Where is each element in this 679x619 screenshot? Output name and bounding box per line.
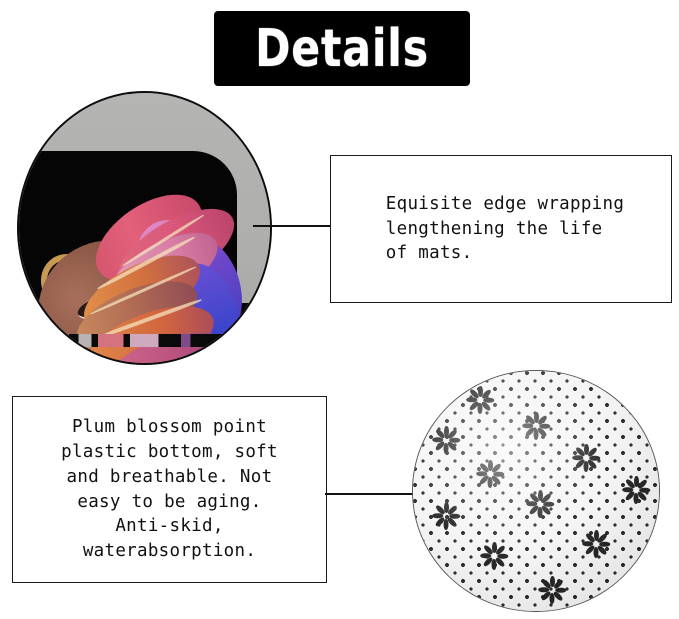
plum-blossom-motif (537, 575, 567, 605)
connector-line-top (253, 225, 332, 227)
page-title: Details (255, 23, 429, 75)
connector-line-bottom (325, 493, 419, 495)
plum-blossom-motif (475, 459, 505, 489)
plum-blossom-motif (571, 443, 601, 473)
plastic-bottom-closeup-image (412, 370, 660, 612)
callout-edge-wrapping: Equisite edge wrapping lengthening the l… (330, 155, 672, 303)
callout-plastic-bottom-text: Plum blossom point plastic bottom, soft … (55, 415, 284, 564)
callout-plastic-bottom: Plum blossom point plastic bottom, soft … (12, 396, 327, 583)
plum-blossom-motif (479, 541, 509, 571)
details-title-banner: Details (214, 11, 470, 86)
mat-edge-strip (69, 334, 229, 347)
plum-blossom-motif (581, 529, 611, 559)
product-detail-page: Details Equisite edge wrapping lengtheni… (0, 0, 679, 619)
plum-blossom-motif (431, 425, 461, 455)
plum-blossom-motif (521, 411, 551, 441)
plum-blossom-motif (525, 489, 555, 519)
plum-blossom-motif (621, 475, 651, 505)
plum-blossom-motif (465, 385, 495, 415)
callout-edge-wrapping-text: Equisite edge wrapping lengthening the l… (372, 192, 630, 267)
mat-surface-closeup-image (17, 91, 272, 365)
plum-blossom-motif (431, 501, 461, 531)
